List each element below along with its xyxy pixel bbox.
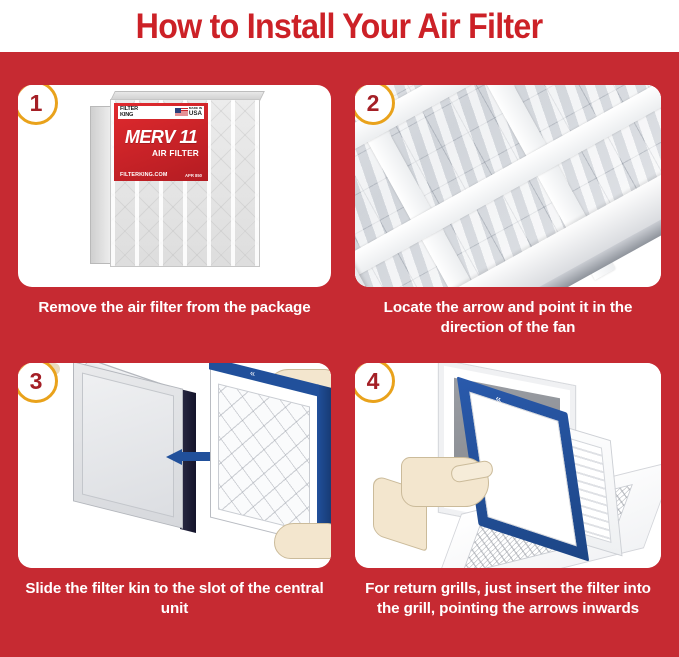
step-2-artwork: AIRFLOW Air Filter bbox=[355, 85, 661, 287]
filter-side-panel bbox=[90, 106, 112, 264]
central-unit-body bbox=[73, 363, 183, 529]
made-in-big: USA bbox=[189, 111, 202, 118]
header-band: How to Install Your Air Filter bbox=[0, 0, 679, 52]
step-3-card: 3 bbox=[18, 363, 331, 568]
arrow-head bbox=[166, 449, 182, 465]
filter-corner-photo: AIRFLOW Air Filter bbox=[355, 85, 661, 287]
brand-website: FILTERKING.COM bbox=[120, 172, 167, 178]
filter-king-logo-icon: FILTER KING bbox=[120, 107, 138, 119]
step-1: 1 FILTER KING bbox=[18, 85, 331, 318]
step-1-caption: Remove the air filter from the package bbox=[18, 298, 331, 318]
brand-line-2: KING bbox=[120, 112, 133, 118]
air-filter-product-photo: FILTER KING MADE IN USA MER bbox=[90, 99, 265, 271]
step-1-card: 1 FILTER KING bbox=[18, 85, 331, 287]
filter-product-label: FILTER KING MADE IN USA MER bbox=[114, 103, 208, 181]
step-2-caption: Locate the arrow and point it in the dir… bbox=[355, 298, 661, 338]
hand-lower bbox=[274, 523, 331, 559]
blue-framed-filter: « bbox=[210, 368, 318, 545]
step-1-artwork: FILTER KING MADE IN USA MER bbox=[18, 85, 331, 287]
step-4-artwork: « bbox=[355, 363, 661, 568]
filter-arrow-marks-icon: « bbox=[250, 369, 256, 379]
step-3-artwork: « bbox=[18, 363, 331, 568]
central-unit-inner-panel bbox=[82, 373, 174, 518]
insert-direction-arrow-icon bbox=[166, 449, 210, 463]
label-subtitle: AIR FILTER bbox=[118, 148, 204, 158]
step-3: 3 bbox=[18, 363, 331, 619]
label-footer-row: FILTERKING.COM APR 850 bbox=[118, 172, 204, 178]
filter-mesh bbox=[218, 384, 310, 533]
step-4-caption: For return grills, just insert the filte… bbox=[355, 579, 661, 619]
merv-rating: MERV 11 bbox=[118, 128, 204, 146]
page-title: How to Install Your Air Filter bbox=[136, 9, 543, 44]
filter-panel: AIRFLOW Air Filter bbox=[355, 85, 661, 287]
step-2: 2 AIRFLOW Air Filt bbox=[355, 85, 661, 338]
arrow-shaft bbox=[182, 452, 210, 461]
made-in-usa-group: MADE IN USA bbox=[175, 107, 202, 117]
infographic-page: How to Install Your Air Filter 1 FILTER … bbox=[0, 0, 679, 657]
apr-rating: APR 850 bbox=[185, 173, 202, 178]
step-4: 4 « bbox=[355, 363, 661, 619]
us-flag-icon bbox=[175, 108, 188, 116]
step-2-card: 2 AIRFLOW Air Filt bbox=[355, 85, 661, 287]
return-grill-diagram: « bbox=[355, 363, 661, 568]
filter-brand-row: FILTER KING MADE IN USA bbox=[118, 106, 204, 119]
step-3-caption: Slide the filter kin to the slot of the … bbox=[18, 579, 331, 619]
step-4-card: 4 « bbox=[355, 363, 661, 568]
made-in-usa-text: MADE IN USA bbox=[189, 107, 202, 117]
slide-filter-diagram: « bbox=[18, 363, 331, 568]
